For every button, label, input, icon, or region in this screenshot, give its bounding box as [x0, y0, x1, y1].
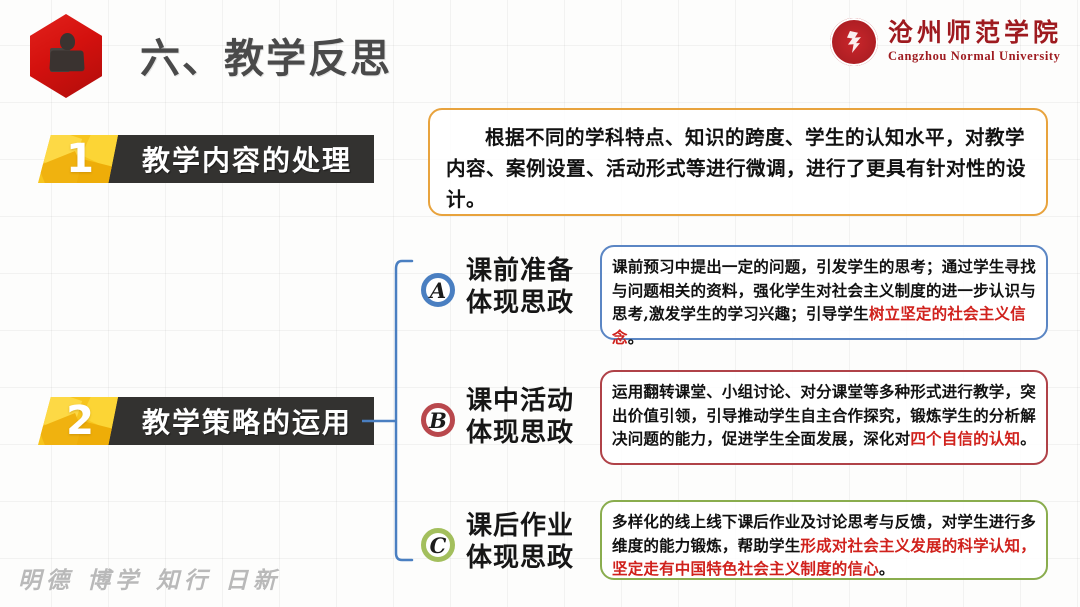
branch-a-text-box: 课前预习中提出一定的问题，引发学生的思考；通过学生寻找与问题相关的资料，强化学生… [600, 245, 1048, 340]
branch-a-text-tail: 。 [628, 328, 644, 347]
slide-canvas: 六、教学反思 沧州师范学院 Cangzhou Normal University… [0, 0, 1080, 607]
branch-b-text: 运用翻转课堂、小组讨论、对分课堂等多种形式进行教学，突出价值引领，引导推动学生自… [612, 380, 1036, 451]
section-heading-bar-1: 教学内容的处理 [104, 135, 374, 183]
section-number-2: 2 [38, 397, 118, 445]
branch-b-text-box: 运用翻转课堂、小组讨论、对分课堂等多种形式进行教学，突出价值引领，引导推动学生自… [600, 370, 1048, 465]
branch-marker-b: B [421, 403, 455, 437]
section-number-badge-1: 1 [38, 135, 118, 183]
section-banner-2: 2 教学策略的运用 [38, 397, 374, 445]
branch-a-stage-line1: 课前准备 [466, 255, 574, 287]
university-name-en: Cangzhou Normal University [888, 49, 1061, 64]
footer-motto-watermark: 明德 博学 知行 日新 [18, 561, 281, 595]
branch-c-text-box: 多样化的线上线下课后作业及讨论思考与反馈，对学生进行多维度的能力锻炼，帮助学生形… [600, 500, 1048, 580]
branch-connector [352, 250, 432, 570]
section-number-1: 1 [38, 135, 118, 183]
section-number-badge-2: 2 [38, 397, 118, 445]
university-name-block: 沧州师范学院 Cangzhou Normal University [888, 20, 1062, 63]
branch-b-stage-label: 课中活动 体现思政 [466, 385, 574, 449]
branch-marker-c-label: C [430, 533, 447, 558]
section-1-text-box: 根据不同的学科特点、知识的跨度、学生的认知水平，对教学内容、案例设置、活动形式等… [428, 108, 1048, 216]
branch-marker-a-label: A [430, 278, 446, 303]
branch-a-stage-label: 课前准备 体现思政 [466, 255, 574, 319]
branch-c-text: 多样化的线上线下课后作业及讨论思考与反馈，对学生进行多维度的能力锻炼，帮助学生形… [612, 510, 1036, 581]
branch-marker-b-label: B [429, 408, 447, 433]
branch-b-stage-line2: 体现思政 [466, 417, 574, 449]
university-seal-icon [830, 18, 878, 66]
branch-b-stage-line1: 课中活动 [466, 385, 574, 417]
page-title: 六、教学反思 [140, 26, 392, 84]
section-heading-bar-2: 教学策略的运用 [104, 397, 374, 445]
branch-c-text-tail: 。 [879, 559, 895, 578]
branch-c-stage-label: 课后作业 体现思政 [466, 510, 574, 574]
branch-b-text-tail: 。 [1020, 429, 1036, 448]
section-heading-2: 教学策略的运用 [142, 401, 352, 441]
branch-marker-a: A [421, 273, 455, 307]
branch-marker-c: C [421, 528, 455, 562]
section-1-body-text: 根据不同的学科特点、知识的跨度、学生的认知水平，对教学内容、案例设置、活动形式等… [446, 122, 1028, 215]
university-logo: 沧州师范学院 Cangzhou Normal University [830, 18, 1062, 66]
branch-a-text: 课前预习中提出一定的问题，引发学生的思考；通过学生寻找与问题相关的资料，强化学生… [612, 255, 1036, 349]
hexagon-icon-head [60, 33, 75, 50]
hexagon-icon-body [49, 50, 84, 71]
section-heading-1: 教学内容的处理 [142, 139, 352, 179]
section-banner-1: 1 教学内容的处理 [38, 135, 374, 183]
teacher-hexagon-icon [30, 14, 102, 98]
university-name-cn: 沧州师范学院 [888, 20, 1062, 46]
branch-a-stage-line2: 体现思政 [466, 287, 574, 319]
branch-c-stage-line2: 体现思政 [466, 542, 574, 574]
branch-b-text-highlight: 四个自信的认知 [910, 429, 1020, 448]
branch-c-stage-line1: 课后作业 [466, 510, 574, 542]
